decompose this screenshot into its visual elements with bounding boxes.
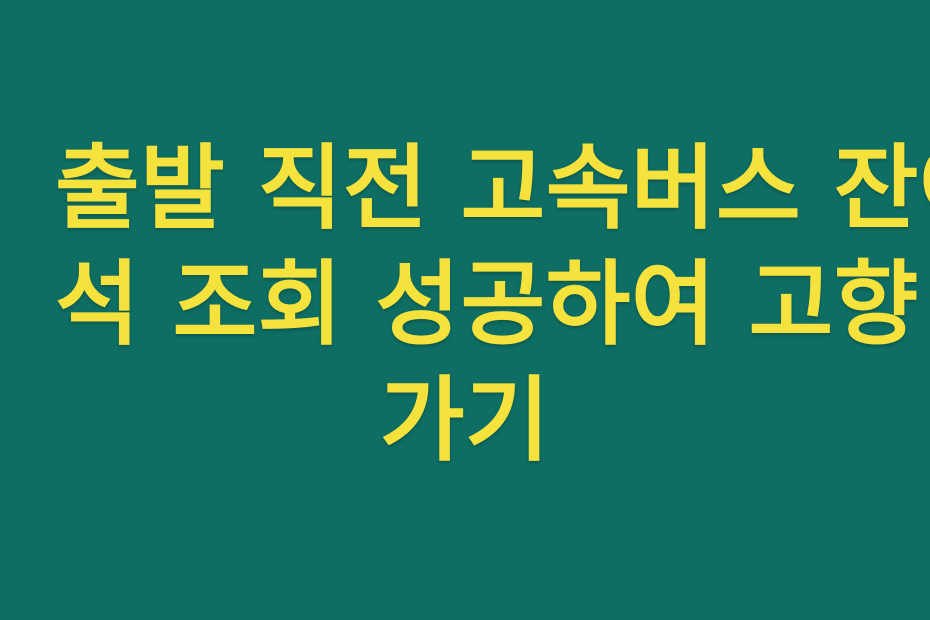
headline-line-1: 출발 직전 고속버스 잔여	[55, 131, 875, 247]
headline-line-2: 석 조회 성공하여 고향	[55, 247, 875, 363]
headline-line-3: 가기	[55, 363, 875, 479]
headline-block: 출발 직전 고속버스 잔여 석 조회 성공하여 고향 가기	[55, 131, 875, 479]
thumbnail-card: 출발 직전 고속버스 잔여 석 조회 성공하여 고향 가기	[0, 0, 930, 620]
